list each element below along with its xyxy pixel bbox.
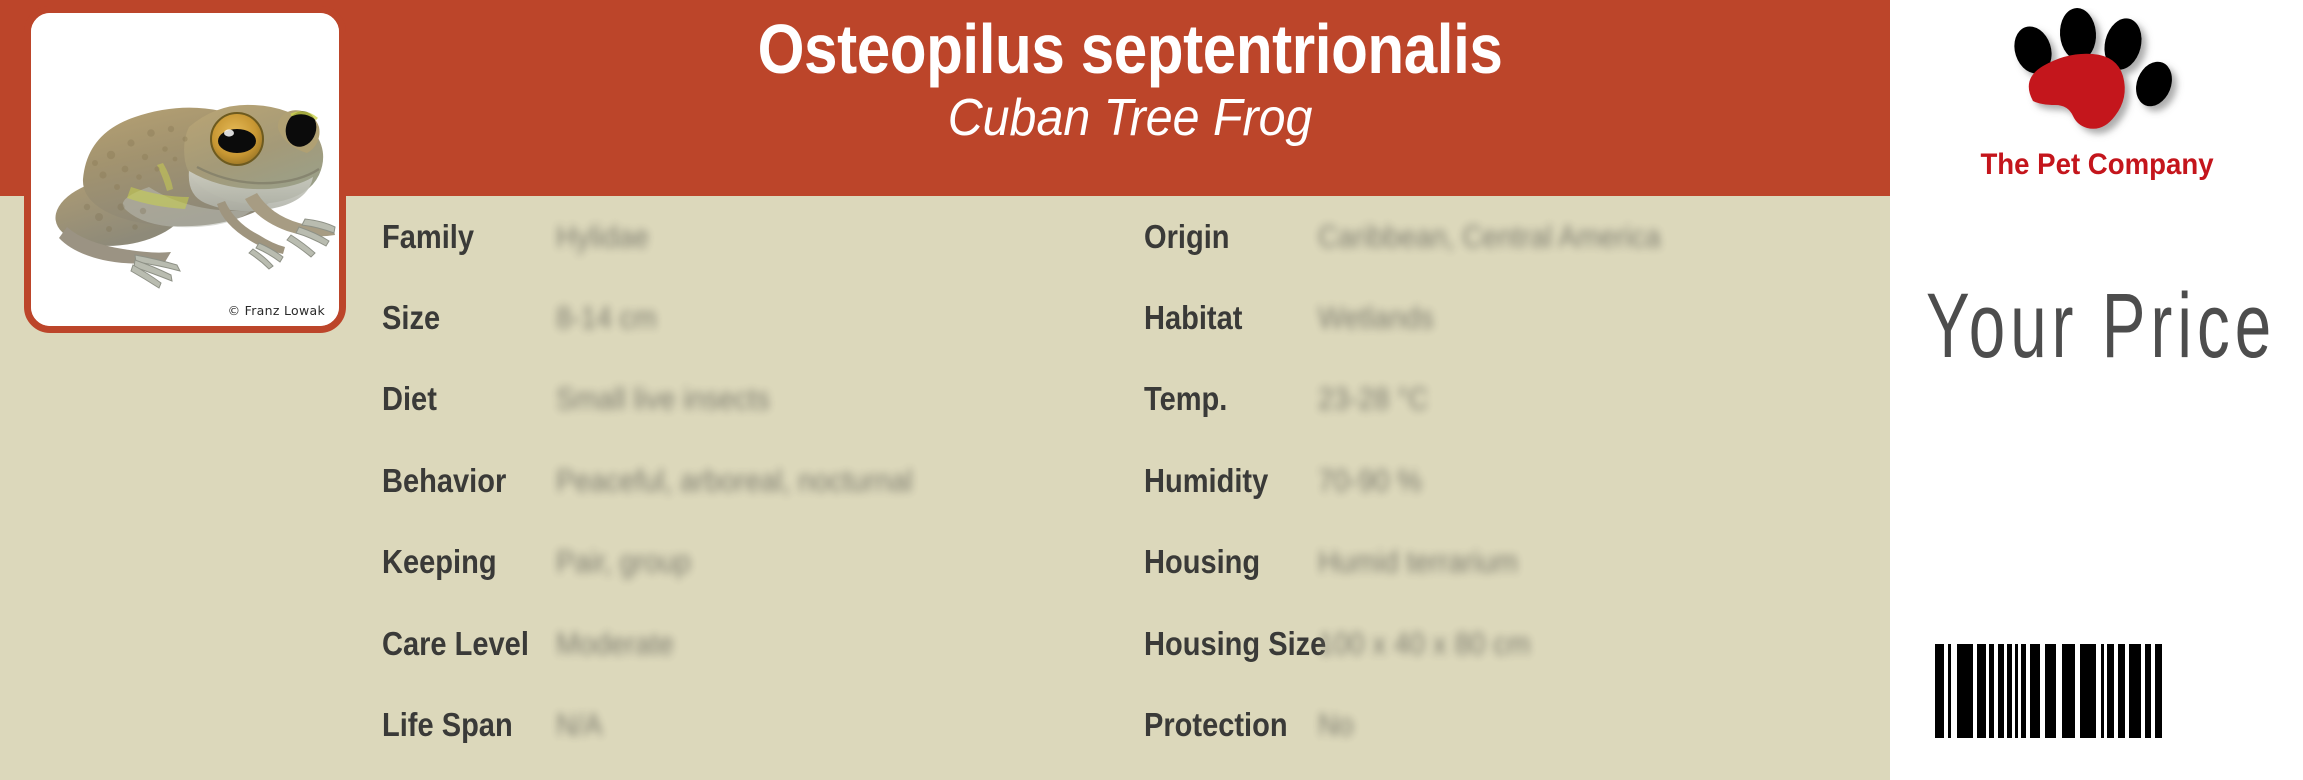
brand-logo: The Pet Company: [1947, 8, 2247, 198]
spec-value-behavior: Peaceful, arboreal, nocturnal: [556, 463, 913, 499]
spec-row: Protection No: [1144, 684, 1882, 765]
spec-label-size: Size: [382, 299, 554, 337]
spec-row: Care Level Moderate: [382, 603, 1142, 684]
barcode-bar: [2062, 644, 2075, 738]
spec-row: Temp. 23-28 °C: [1144, 359, 1882, 440]
spec-value-family: Hylidae: [556, 219, 649, 255]
spec-value-keeping: Pair, group: [556, 544, 691, 580]
spec-label-diet: Diet: [382, 380, 554, 418]
spec-label-family: Family: [382, 218, 554, 256]
spec-row: Size 8-14 cm: [382, 277, 1142, 358]
barcode: [1935, 644, 2162, 738]
spec-label-keeping: Keeping: [382, 543, 554, 581]
spec-row: Behavior Peaceful, arboreal, nocturnal: [382, 440, 1142, 521]
barcode-bar: [2129, 644, 2141, 738]
spec-row: Housing Humid terrarium: [1144, 522, 1882, 603]
barcode-bar: [2107, 644, 2114, 738]
spec-label-habitat: Habitat: [1144, 299, 1316, 337]
brand-name: The Pet Company: [1959, 148, 2235, 182]
spec-row: Origin Caribbean, Central America: [1144, 196, 1882, 277]
barcode-bar: [2080, 644, 2096, 738]
spec-label-behavior: Behavior: [382, 462, 554, 500]
spec-row: Diet Small live insects: [382, 359, 1142, 440]
spec-value-protection: No: [1318, 707, 1354, 743]
price-heading: Your Price: [1926, 272, 2276, 379]
common-name: Cuban Tree Frog: [948, 91, 1313, 146]
spec-column-right: Origin Caribbean, Central America Habita…: [1144, 196, 1882, 780]
frog-illustration: [39, 59, 339, 291]
spec-row: Keeping Pair, group: [382, 522, 1142, 603]
barcode-bar: [2045, 644, 2056, 738]
spec-label-origin: Origin: [1144, 218, 1316, 256]
title-block: Osteopilus septentrionalis Cuban Tree Fr…: [370, 0, 1890, 196]
spec-value-temp: 23-28 °C: [1318, 381, 1428, 417]
barcode-bar: [1977, 644, 1986, 738]
spec-grid: Family Hylidae Size 8-14 cm Diet Small l…: [382, 196, 1882, 780]
spec-value-housing-size: 100 x 40 x 80 cm: [1318, 626, 1530, 662]
barcode-bar: [1957, 644, 1973, 738]
spec-label-life-span: Life Span: [382, 706, 554, 744]
info-panel: Osteopilus septentrionalis Cuban Tree Fr…: [0, 0, 1890, 780]
spec-value-habitat: Wetlands: [1318, 300, 1434, 336]
spec-label-humidity: Humidity: [1144, 462, 1316, 500]
species-photo-frame: © Franz Lowak: [24, 6, 346, 333]
species-photo: © Franz Lowak: [31, 13, 339, 326]
spec-value-origin: Caribbean, Central America: [1318, 219, 1661, 255]
spec-column-left: Family Hylidae Size 8-14 cm Diet Small l…: [382, 196, 1142, 780]
spec-row: Habitat Wetlands: [1144, 277, 1882, 358]
spec-value-size: 8-14 cm: [556, 300, 657, 336]
spec-label-housing-size: Housing Size: [1144, 625, 1316, 663]
scientific-name: Osteopilus septentrionalis: [758, 14, 1503, 85]
spec-value-humidity: 70-90 %: [1318, 463, 1422, 499]
spec-label-temp: Temp.: [1144, 380, 1316, 418]
barcode-bar: [2030, 644, 2040, 738]
barcode-bar: [2118, 644, 2125, 738]
spec-label-housing: Housing: [1144, 543, 1316, 581]
price-panel: The Pet Company Your Price: [1890, 0, 2303, 780]
spec-value-care-level: Moderate: [556, 626, 674, 662]
spec-row: Life Span N/A: [382, 684, 1142, 765]
spec-row: Housing Size 100 x 40 x 80 cm: [1144, 603, 1882, 684]
spec-row: Humidity 70-90 %: [1144, 440, 1882, 521]
spec-label-care-level: Care Level: [382, 625, 554, 663]
spec-label-protection: Protection: [1144, 706, 1316, 744]
barcode-bar: [1935, 644, 1944, 738]
paw-print-icon: [1999, 8, 2195, 146]
spec-value-diet: Small live insects: [556, 381, 770, 417]
species-care-label: Osteopilus septentrionalis Cuban Tree Fr…: [0, 0, 2303, 780]
photo-credit: © Franz Lowak: [228, 303, 325, 318]
barcode-bar: [2155, 644, 2162, 738]
spec-row: Family Hylidae: [382, 196, 1142, 277]
spec-value-life-span: N/A: [556, 707, 603, 743]
spec-value-housing: Humid terrarium: [1318, 544, 1518, 580]
